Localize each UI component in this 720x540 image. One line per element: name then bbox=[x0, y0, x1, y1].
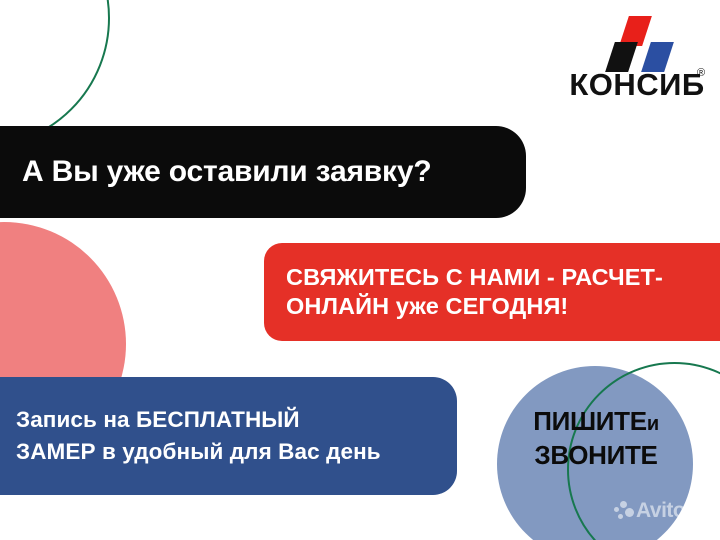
brand-logo: КОНСИБ ® bbox=[566, 16, 708, 106]
headline-banner: А Вы уже оставили заявку? bbox=[0, 126, 526, 218]
avito-watermark-text: Avito bbox=[636, 500, 685, 521]
cta-line1-conjunction: и bbox=[647, 413, 659, 435]
offer-banner: СВЯЖИТЕСЬ С НАМИ - РАСЧЕТ- ОНЛАЙН уже СЕ… bbox=[264, 243, 720, 341]
avito-watermark: Avito bbox=[614, 500, 685, 521]
brand-name: КОНСИБ bbox=[566, 69, 708, 100]
avito-dots-icon bbox=[614, 501, 634, 521]
free-measurement-banner: Запись на БЕСПЛАТНЫЙ ЗАМЕР в удобный для… bbox=[0, 377, 457, 495]
offer-text-line2: ОНЛАЙН уже СЕГОДНЯ! bbox=[286, 293, 568, 319]
headline-text: А Вы уже оставили заявку? bbox=[22, 155, 431, 189]
cta-line1-strong: ПИШИТЕ bbox=[533, 406, 647, 436]
contact-cta: ПИШИТЕи ЗВОНИТЕ bbox=[492, 404, 700, 473]
registered-trademark-icon: ® bbox=[697, 67, 705, 79]
cta-line2: ЗВОНИТЕ bbox=[534, 440, 657, 470]
offer-text-line1: СВЯЖИТЕСЬ С НАМИ - РАСЧЕТ- bbox=[286, 264, 663, 290]
free-measurement-line1: Запись на БЕСПЛАТНЫЙ bbox=[16, 407, 300, 432]
free-measurement-text: Запись на БЕСПЛАТНЫЙ ЗАМЕР в удобный для… bbox=[16, 404, 381, 468]
free-measurement-line2: ЗАМЕР в удобный для Вас день bbox=[16, 439, 381, 464]
logo-parallelograms-icon bbox=[566, 16, 708, 72]
poster-canvas: КОНСИБ ® А Вы уже оставили заявку? СВЯЖИ… bbox=[0, 0, 720, 540]
offer-text: СВЯЖИТЕСЬ С НАМИ - РАСЧЕТ- ОНЛАЙН уже СЕ… bbox=[286, 263, 663, 322]
